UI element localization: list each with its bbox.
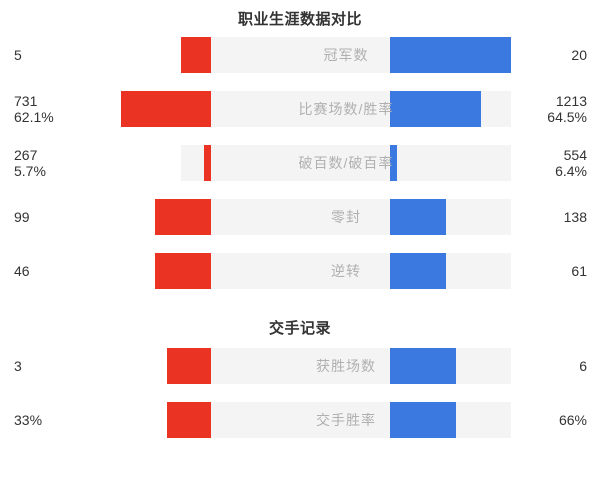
left-value: 267 5.7% [14, 147, 46, 179]
left-value: 731 62.1% [14, 93, 54, 125]
right-bar [390, 402, 456, 438]
bar-track: 破百数/破百率 [181, 145, 511, 181]
left-value: 5 [14, 47, 22, 63]
right-bar [390, 253, 446, 289]
right-bar [390, 37, 511, 73]
right-bar [390, 91, 481, 127]
left-bar [155, 199, 211, 235]
right-value: 20 [571, 47, 587, 63]
metric-label: 逆转 [181, 253, 511, 289]
comparison-row: 731 62.1%比赛场数/胜率1213 64.5% [0, 91, 600, 127]
right-bar [390, 199, 446, 235]
left-bar [167, 348, 211, 384]
left-bar [181, 37, 211, 73]
left-value: 3 [14, 358, 22, 374]
right-value: 138 [564, 209, 587, 225]
bar-track: 交手胜率 [181, 402, 511, 438]
left-bar [204, 145, 211, 181]
right-bar [390, 145, 397, 181]
bar-track: 逆转 [181, 253, 511, 289]
comparison-row: 46逆转61 [0, 253, 600, 289]
left-bar [155, 253, 211, 289]
comparison-row: 5冠军数20 [0, 37, 600, 73]
right-bar [390, 348, 456, 384]
right-value: 554 6.4% [555, 147, 587, 179]
section-title: 职业生涯数据对比 [0, 0, 600, 37]
left-value: 99 [14, 209, 30, 225]
bar-track: 零封 [181, 199, 511, 235]
right-value: 6 [579, 358, 587, 374]
right-value: 66% [559, 412, 587, 428]
section-title: 交手记录 [0, 307, 600, 348]
metric-label: 获胜场数 [181, 348, 511, 384]
bar-track: 比赛场数/胜率 [181, 91, 511, 127]
comparison-chart: 职业生涯数据对比5冠军数20731 62.1%比赛场数/胜率1213 64.5%… [0, 0, 600, 438]
comparison-row: 3获胜场数6 [0, 348, 600, 384]
bar-track: 获胜场数 [181, 348, 511, 384]
bar-track: 冠军数 [181, 37, 511, 73]
comparison-row: 267 5.7%破百数/破百率554 6.4% [0, 145, 600, 181]
metric-label: 交手胜率 [181, 402, 511, 438]
section-0: 职业生涯数据对比5冠军数20731 62.1%比赛场数/胜率1213 64.5%… [0, 0, 600, 289]
right-value: 61 [571, 263, 587, 279]
comparison-row: 33%交手胜率66% [0, 402, 600, 438]
section-1: 交手记录3获胜场数633%交手胜率66% [0, 307, 600, 438]
metric-label: 零封 [181, 199, 511, 235]
left-value: 33% [14, 412, 42, 428]
left-value: 46 [14, 263, 30, 279]
left-bar [121, 91, 211, 127]
right-value: 1213 64.5% [547, 93, 587, 125]
metric-label: 破百数/破百率 [181, 145, 511, 181]
comparison-row: 99零封138 [0, 199, 600, 235]
left-bar [167, 402, 211, 438]
